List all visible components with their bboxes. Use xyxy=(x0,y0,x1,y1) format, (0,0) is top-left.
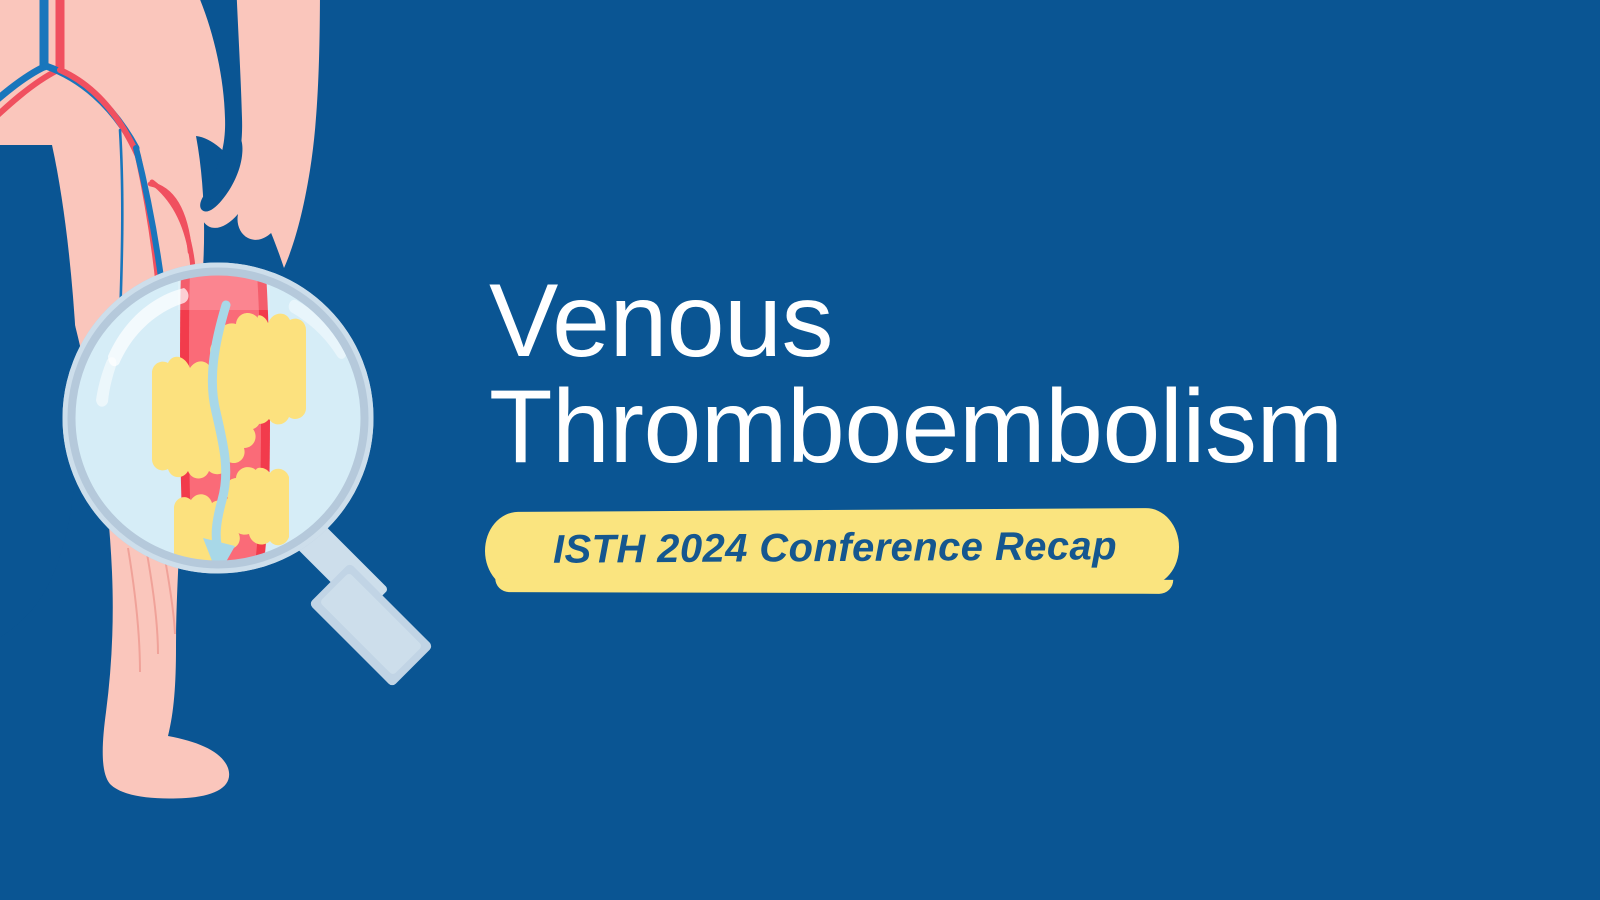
subtitle-text: ISTH 2024 Conference Recap xyxy=(553,526,1117,569)
slide-canvas: Venous Thromboembolism ISTH 2024 Confere… xyxy=(0,0,1600,900)
subtitle-badge: ISTH 2024 Conference Recap xyxy=(485,508,1179,590)
title-group: Venous Thromboembolism ISTH 2024 Confere… xyxy=(489,268,1489,480)
page-title: Venous Thromboembolism xyxy=(489,268,1489,480)
magnifier-handle xyxy=(295,521,433,687)
venous-thromboembolism-illustration xyxy=(0,0,520,900)
